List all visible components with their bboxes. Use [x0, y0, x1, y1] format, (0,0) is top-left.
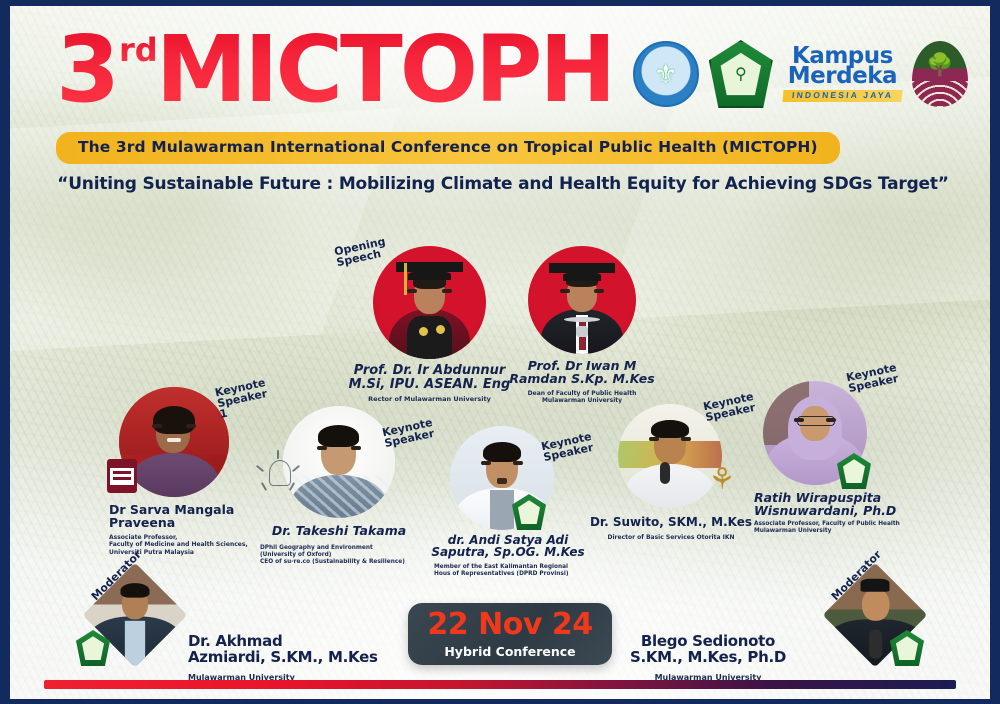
- title-acronym: MICTOPH: [156, 26, 614, 113]
- speaker-card-ratih: Keynote Speaker Ratih Wirapuspita Wisnuw…: [763, 381, 867, 485]
- conference-name-banner: The 3rd Mulawarman International Confere…: [56, 132, 840, 164]
- moderator-name-blego: Blego Sedionoto S.KM., M.Kes, Ph.D: [593, 634, 823, 665]
- speaker-card-saputra: Keynote Speaker dr. Andi Satya Adi Saput…: [450, 426, 554, 530]
- conference-mode: Hybrid Conference: [444, 644, 575, 659]
- speaker-role-saputra: Member of the East Kalimantan Regional H…: [434, 564, 599, 578]
- nusantara-rings: [912, 81, 968, 107]
- speaker-photo-iwan-ramdan: [528, 246, 636, 354]
- kampus-merdeka-line3: INDONESIA JAYA: [782, 90, 902, 102]
- su-re-co-logo: [253, 450, 305, 504]
- partner-logos: ⚜ ⚲ Kampus Merdeka INDONESIA JAYA 🌳: [633, 40, 968, 108]
- speaker-card-abdunnur: Opening Speech Prof. Dr. Ir Abdunnur M.S…: [373, 246, 486, 359]
- conference-date: 22 Nov 24: [427, 610, 592, 640]
- mulawarman-university-icon: ⚲: [709, 40, 773, 108]
- kampus-merdeka-icon: Kampus Merdeka INDONESIA JAYA: [783, 46, 902, 101]
- date-badge: 22 Nov 24 Hybrid Conference: [408, 603, 612, 665]
- kampus-merdeka-line2: Merdeka: [788, 66, 897, 87]
- title-ordinal-number: 3: [56, 26, 118, 113]
- poster-header: 3 rd MICTOPH ⚜ ⚲ Kampus Merdeka INDONESI…: [10, 6, 990, 220]
- speaker-role-suwito: Director of Basic Services Otorita IKN: [586, 534, 756, 541]
- conference-poster: 3 rd MICTOPH ⚜ ⚲ Kampus Merdeka INDONESI…: [0, 0, 1000, 704]
- otorita-ikn-logo: ⚘: [702, 460, 742, 500]
- bottom-gradient-bar: [44, 680, 956, 689]
- speaker-photo-abdunnur: [373, 246, 486, 359]
- tut-wuri-handayani-icon: ⚜: [633, 41, 699, 107]
- speaker-card-suwito: Keynote Speaker ⚘ Dr. Suwito, SKM., M.Ke…: [618, 404, 722, 508]
- tree-icon: 🌳: [926, 52, 953, 78]
- garuda-bird-icon: ⚜: [654, 61, 677, 87]
- poster-title: 3 rd MICTOPH: [56, 26, 613, 113]
- universiti-putra-malaysia-logo: [107, 459, 137, 493]
- speaker-name-ratih: Ratih Wirapuspita Wisnuwardani, Ph.D: [754, 491, 934, 517]
- speaker-role-ratih: Associate Professor, Faculty of Public H…: [754, 521, 934, 535]
- ikn-nusantara-icon: 🌳: [912, 41, 968, 107]
- speaker-name-iwan-ramdan: Prof. Dr Iwan M Ramdan S.Kp. M.Kes: [492, 359, 672, 385]
- mulawarman-crest-inner: ⚲: [719, 51, 763, 97]
- speaker-role-iwan-ramdan: Dean of Faculty of Public Health Mulawar…: [492, 390, 672, 405]
- speaker-card-takama: Keynote Speaker Dr. Takeshi Takama DPhil…: [283, 406, 395, 518]
- speaker-card-praveena: Keynote Speaker 1 Dr Sarva Mangala Prave…: [119, 387, 229, 497]
- speaker-name-suwito: Dr. Suwito, SKM., M.Kes: [586, 516, 756, 528]
- title-ordinal-suffix: rd: [119, 34, 158, 66]
- speaker-name-saputra: dr. Andi Satya Adi Saputra, Sp.OG. M.Kes: [423, 534, 593, 559]
- moderator-name-azmiardi: Dr. Akhmad Azmiardi, S.KM., M.Kes: [188, 634, 418, 665]
- speaker-name-takama: Dr. Takeshi Takama: [249, 524, 429, 537]
- speaker-card-iwan-ramdan: Prof. Dr Iwan M Ramdan S.Kp. M.Kes Dean …: [528, 246, 636, 354]
- portrait-iwan-ramdan: [528, 246, 636, 354]
- conference-theme: “Uniting Sustainable Future : Mobilizing…: [56, 174, 950, 194]
- portrait-abdunnur: [373, 246, 486, 359]
- conference-name-text: The 3rd Mulawarman International Confere…: [78, 138, 818, 156]
- speaker-role-takama: DPhil Geography and Environment (Univers…: [260, 545, 435, 566]
